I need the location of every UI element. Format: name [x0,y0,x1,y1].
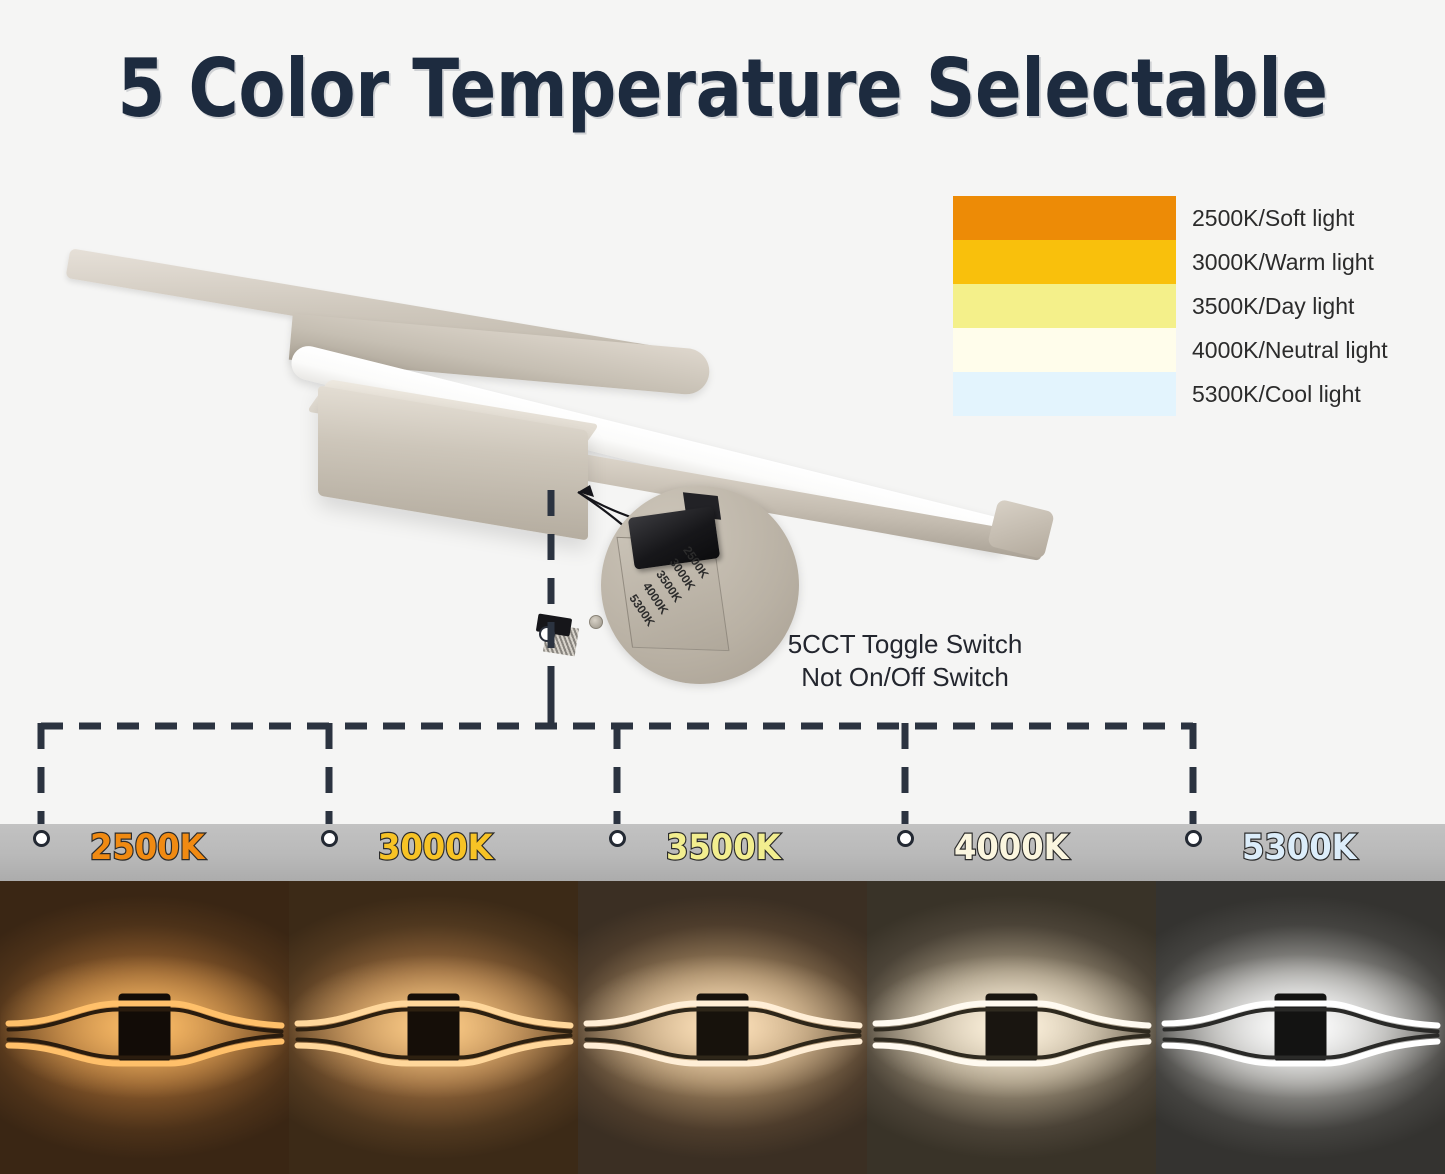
legend-item-2500k: 2500K/Soft light [953,196,1383,240]
connector-tree [0,690,1445,840]
cct-photo-2500k [0,881,289,1174]
cct-dot-5300k [1185,830,1202,847]
legend-label-2500k: 2500K/Soft light [1192,205,1354,232]
legend-item-4000k: 4000K/Neutral light [953,328,1383,372]
cct-photo-strip [0,881,1445,1174]
color-temperature-legend: 2500K/Soft light 3000K/Warm light 3500K/… [953,196,1383,416]
legend-item-5300k: 5300K/Cool light [953,372,1383,416]
legend-swatch-3500k [953,284,1176,328]
legend-label-4000k: 4000K/Neutral light [1192,337,1388,364]
legend-swatch-5300k [953,372,1176,416]
page-title: 5 Color Temperature Selectable [101,42,1344,135]
legend-item-3000k: 3000K/Warm light [953,240,1383,284]
cct-label-3000k: 3000K [378,828,493,868]
legend-swatch-3000k [953,240,1176,284]
cct-label-5300k: 5300K [1242,828,1357,868]
cct-photo-5300k [1156,881,1445,1174]
cct-label-3500k: 3500K [666,828,781,868]
cct-photo-4000k [867,881,1156,1174]
legend-label-5300k: 5300K/Cool light [1192,381,1361,408]
cct-dot-4000k [897,830,914,847]
cct-dot-2500k [33,830,50,847]
cct-photo-3000k [289,881,578,1174]
legend-swatch-2500k [953,196,1176,240]
legend-label-3500k: 3500K/Day light [1192,293,1354,320]
infographic-page: 5 Color Temperature Selectable 2500K 300… [0,0,1445,1174]
cct-label-2500k: 2500K [90,828,205,868]
legend-label-3000k: 3000K/Warm light [1192,249,1374,276]
cct-dot-3500k [609,830,626,847]
cct-label-4000k: 4000K [954,828,1069,868]
switch-dropline [0,484,1445,694]
cct-photo-3500k [578,881,867,1174]
cct-dot-3000k [321,830,338,847]
legend-item-3500k: 3500K/Day light [953,284,1383,328]
legend-swatch-4000k [953,328,1176,372]
